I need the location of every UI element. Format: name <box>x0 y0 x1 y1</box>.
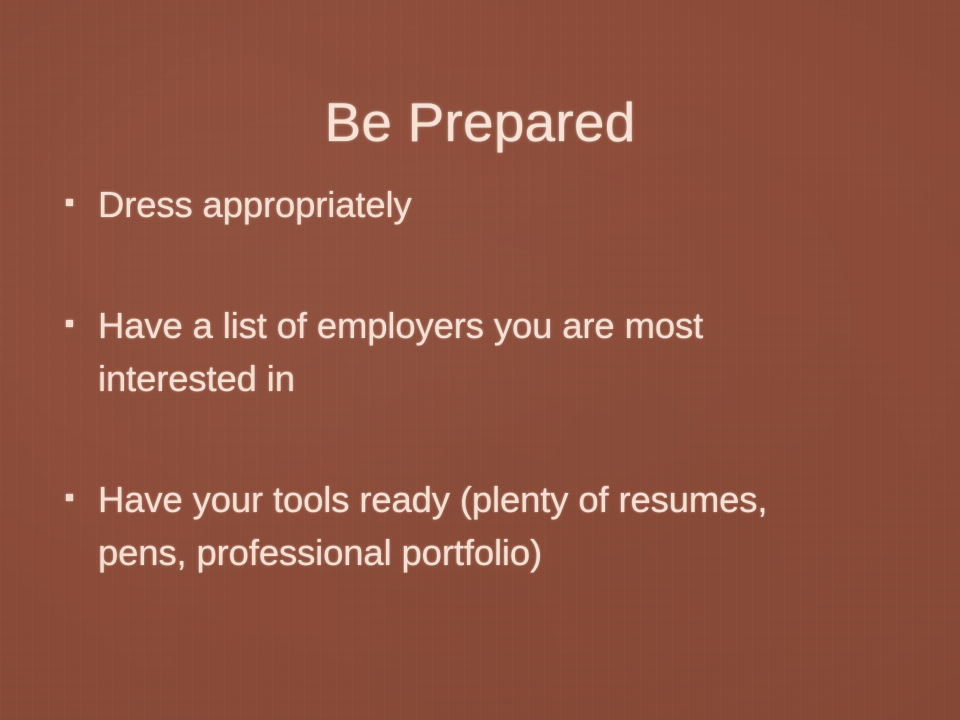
bullet-item-dress-appropriately: Dress appropriately <box>62 178 922 231</box>
presentation-slide: Be Prepared Dress appropriately Have a l… <box>0 0 960 720</box>
slide-title: Be Prepared <box>0 93 960 151</box>
bullet-list: Dress appropriately Have a list of emplo… <box>62 178 922 579</box>
square-bullet-icon <box>66 320 73 327</box>
square-bullet-icon <box>66 199 73 206</box>
bullet-item-employer-list: Have a list of employers you are most in… <box>62 299 922 405</box>
bullet-item-text: Have your tools ready (plenty of resumes… <box>98 473 922 579</box>
bullet-item-text: Have a list of employers you are most in… <box>98 299 922 405</box>
bullet-item-text: Dress appropriately <box>98 178 888 231</box>
square-bullet-icon <box>66 494 73 501</box>
bullet-item-tools-ready: Have your tools ready (plenty of resumes… <box>62 473 922 579</box>
